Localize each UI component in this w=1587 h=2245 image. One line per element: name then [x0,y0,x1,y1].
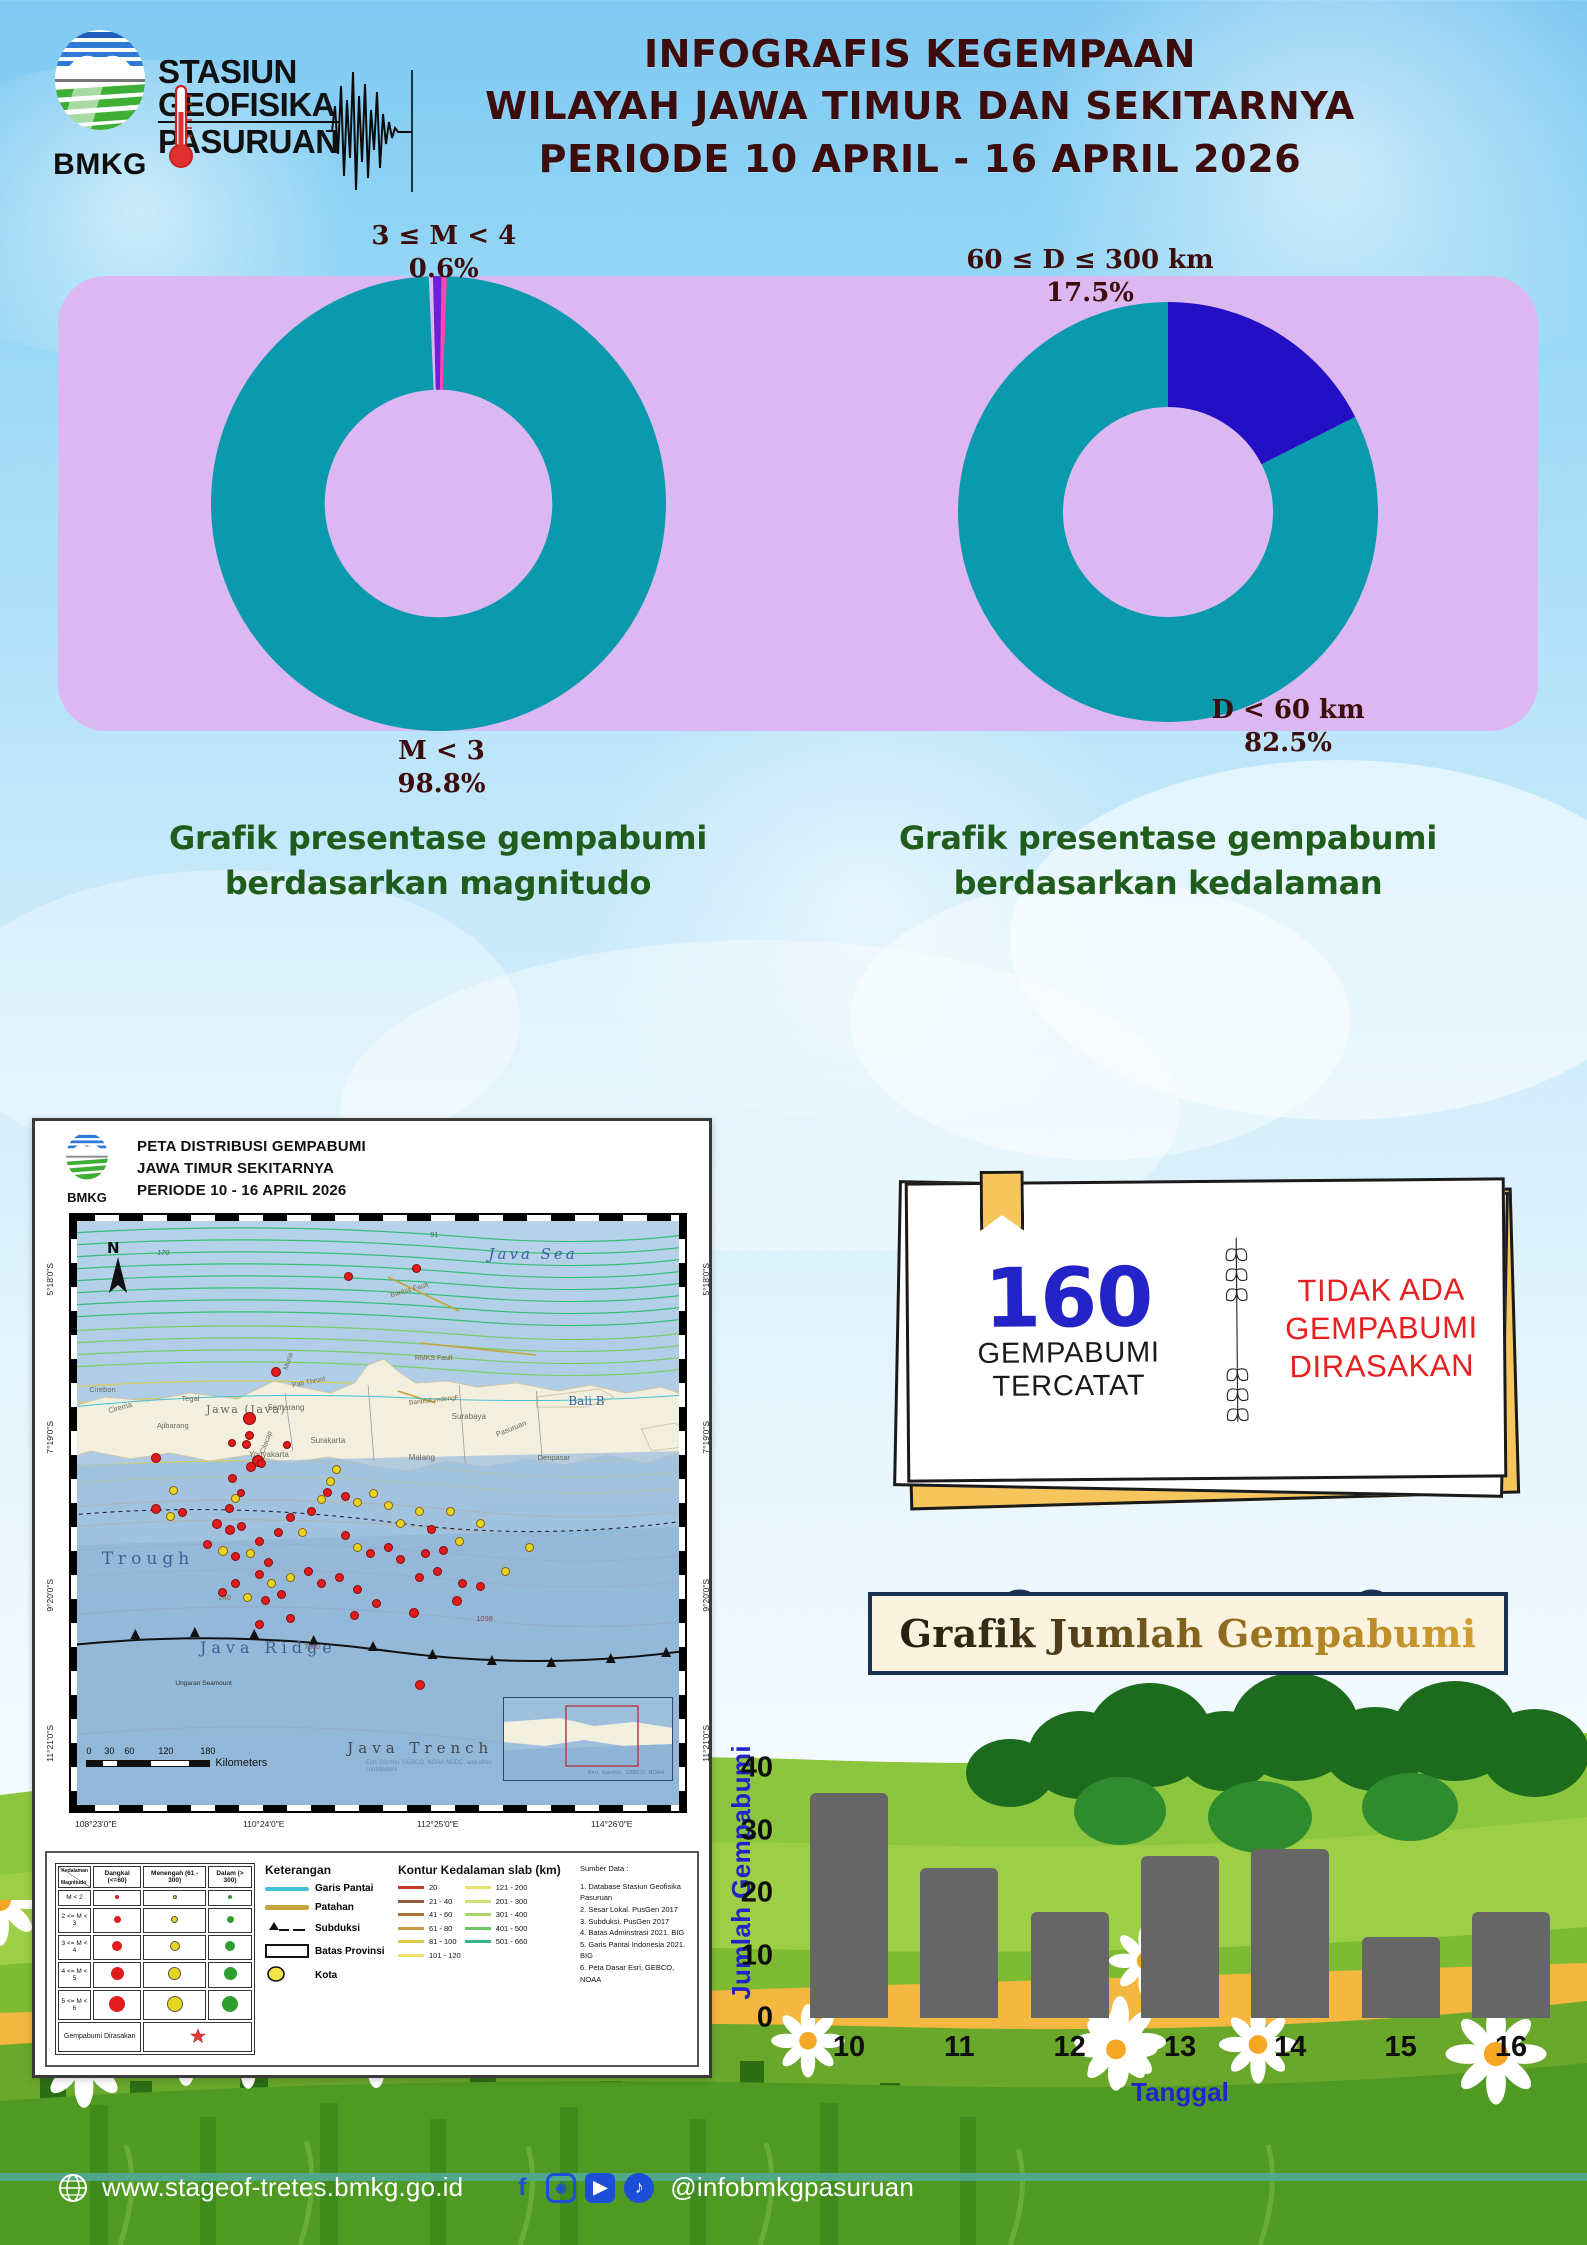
map-lon-label-2: 110°24'0"E [243,1819,284,1829]
chart-banner: Grafik Jumlah Gempabumi [868,1570,1508,1675]
map-city-malang: Malang [409,1453,435,1462]
map-inset: Esri, Garmin, GEBCO, NOAA [503,1697,673,1781]
magnitude-bottom-label-value: 98.8% [398,768,486,801]
y-tick-30: 30 [741,1814,773,1847]
legend-item-subduction-label: Subduksi [315,1923,360,1934]
depth-caption-line-2: berdasarkan kedalaman [848,861,1488,906]
kontur-left-list: 20 21 - 40 41 - 60 61 - 80 81 - 100 101 … [398,1883,461,1964]
kontur-item: 21 - 40 [398,1897,461,1906]
quake-marker [412,1264,421,1273]
depth-chart-block: 60 ≤ D ≤ 300 km 17.5% D < 60 km 82.5% Gr… [848,276,1488,731]
depth-bottom-label: D < 60 km 82.5% [1163,694,1413,761]
map-tick-band-top [71,1215,685,1221]
quake-marker [231,1552,240,1561]
bmkg-wordmark: BMKG [48,148,152,182]
map-label-rmks-fault: RMKS Fault [415,1355,453,1362]
legend-item-fault: Patahan [265,1902,390,1913]
kontur-item: 121 - 200 [465,1883,528,1892]
legend-item-province: Batas Provinsi [265,1944,390,1958]
bar-15 [1362,1937,1440,2018]
sumber-item: 3. Subduksi. PusGen 2017 [580,1916,689,1928]
legend-item-fault-label: Patahan [315,1902,354,1913]
map-lat-label-3: 9°20'0"S [45,1579,55,1612]
map-label-trough: Trough [102,1549,194,1569]
map-lon-label-1: 108°23'0"E [75,1819,117,1829]
quake-marker [243,1412,256,1425]
contour-label-7300: 7300 [304,1644,320,1651]
footer-contact-row: www.stageof-tretes.bmkg.go.id f ◉ ▶ ♪ @i… [58,2172,914,2203]
legend-item-coastline: Garis Pantai [265,1883,390,1894]
title-line-3: PERIODE 10 APRIL - 16 APRIL 2026 [330,133,1510,185]
bar-11 [920,1868,998,2018]
sumber-item: 5. Garis Pantai Indonesia 2021. BIG [580,1939,689,1962]
quake-marker [317,1579,326,1588]
bar-13 [1141,1856,1219,2018]
legend-magnitude-depth-table: Kedalaman Magnitudo Dangkal (<=60) Menen… [55,1863,255,2055]
legend-sumber-data: Sumber Data : 1. Database Stasiun Geofis… [570,1863,689,2055]
quake-marker [274,1528,283,1537]
quake-marker [427,1525,436,1534]
quake-marker [271,1367,281,1377]
magnitude-bottom-label-name: M < 3 [398,735,486,768]
depth-bottom-label-name: D < 60 km [1163,694,1413,727]
page-footer: www.stageof-tretes.bmkg.go.id f ◉ ▶ ♪ @i… [0,2035,1587,2245]
map-tick-band-bottom [71,1805,685,1811]
magnitude-donut: 3 ≤ M < 4 0.6% M < 3 98.8% [211,276,666,731]
map-lon-label-4: 114°26'0"E [591,1819,632,1829]
kontur-item: 501 - 660 [465,1937,528,1946]
facebook-icon[interactable]: f [507,2173,537,2203]
map-title-line-1: PETA DISTRIBUSI GEMPABUMI [137,1136,366,1158]
contour-label-91: 91 [430,1230,438,1239]
globe-icon [58,2173,88,2203]
kontur-item: 301 - 400 [465,1910,528,1919]
province-swatch-icon [265,1944,309,1958]
sumber-item: 2. Sesar Lokal. PusGen 2017 [580,1904,689,1916]
map-inset-graphic: Esri, Garmin, GEBCO, NOAA [504,1698,673,1781]
kontur-label: 21 - 40 [429,1897,452,1906]
svg-text:N: N [107,1239,120,1257]
legend-depth-header-2: Menengah (61 - 300) [143,1866,206,1888]
legend-item-city-label: Kota [315,1970,337,1981]
quake-marker [246,1549,255,1558]
map-bmkg-logo: BMKG [59,1133,115,1205]
count-card-front: 160 GEMPABUMI TERCATAT TIDAK ADA GEMPABU… [905,1177,1508,1482]
felt-line-2: GEMPABUMI [1260,1309,1503,1349]
quake-marker [476,1582,485,1591]
depth-donut-svg [958,302,1378,722]
map-lat-label-2: 7°19'0"S [45,1421,55,1454]
bar-16 [1472,1912,1550,2018]
count-card-felt-status: TIDAK ADA GEMPABUMI DIRASAKAN [1260,1271,1504,1387]
legend-mag-row-2: 2 <= M < 3 [58,1908,91,1933]
kontur-label: 61 - 80 [429,1924,452,1933]
count-card-divider [1213,1230,1261,1430]
magnitude-chart-block: 3 ≤ M < 4 0.6% M < 3 98.8% Grafik presen… [118,276,758,731]
coastline-swatch-icon [265,1887,309,1891]
felt-line-3: DIRASAKAN [1260,1346,1503,1386]
page-title: INFOGRAFIS KEGEMPAAN WILAYAH JAWA TIMUR … [330,28,1510,185]
kontur-item: 401 - 500 [465,1924,528,1933]
depth-caption-line-1: Grafik presentase gempabumi [848,816,1488,861]
fault-swatch-icon [265,1905,309,1910]
percentage-charts-panel: 3 ≤ M < 4 0.6% M < 3 98.8% Grafik presen… [58,276,1538,731]
map-lat-label-1-right: 5°18'0"S [701,1263,711,1296]
bmkg-logo-icon [52,30,148,142]
felt-line-1: TIDAK ADA [1260,1271,1503,1311]
quake-marker [341,1531,350,1540]
svg-text:Esri, Garmin, GEBCO, NOAA: Esri, Garmin, GEBCO, NOAA [588,1770,665,1776]
legend-mag-row-4: 4 <= M < 5 [58,1962,91,1988]
youtube-icon[interactable]: ▶ [585,2173,615,2203]
contour-label-170: 170 [157,1248,170,1257]
y-tick-10: 10 [741,1939,773,1972]
bar-series [810,1768,1550,2018]
quake-marker [433,1567,442,1576]
quake-marker [231,1579,240,1588]
legend-axis-depth: Kedalaman [61,1868,88,1874]
map-bmkg-wordmark: BMKG [59,1190,115,1205]
quake-marker [218,1588,227,1597]
quake-marker [384,1543,393,1552]
quake-marker [166,1512,175,1521]
quake-marker [245,1431,254,1440]
earthquake-distribution-map-card[interactable]: BMKG PETA DISTRIBUSI GEMPABUMI JAWA TIMU… [32,1118,712,2078]
quake-marker [415,1573,424,1582]
quake-marker [255,1570,264,1579]
map-lon-label-3: 112°25'0"E [417,1819,458,1829]
quake-marker [326,1477,335,1486]
legend-item-subduction: Subduksi [265,1921,390,1936]
kontur-label: 201 - 300 [496,1897,528,1906]
quake-marker [323,1488,332,1497]
map-title-line-2: JAWA TIMUR SEKITARNYA [137,1158,366,1180]
scale-tick-180: 180 [200,1746,215,1756]
quake-marker [151,1504,161,1514]
kontur-right-list: 121 - 200 201 - 300 301 - 400 401 - 500 … [465,1883,528,1964]
sumber-item: 4. Batas Adminstrasi 2021. BIG [580,1927,689,1939]
page-header: BMKG STASIUN GEOFISIKA PASURUAN INFOGRAF… [0,0,1587,250]
legend-mag-row-3: 3 <= M < 4 [58,1935,91,1960]
legend-axis-magnitude: Magnitudo [61,1880,86,1886]
instagram-icon[interactable]: ◉ [546,2173,576,2203]
depth-bottom-label-value: 82.5% [1163,727,1413,760]
kontur-label: 121 - 200 [496,1883,528,1892]
quake-marker [421,1549,430,1558]
quake-marker [366,1549,375,1558]
magnitude-caption-line-1: Grafik presentase gempabumi [118,816,758,861]
quake-marker [415,1507,424,1516]
footer-handle[interactable]: @infobmkgpasuruan [670,2172,914,2203]
magnitude-caption: Grafik presentase gempabumi berdasarkan … [118,816,758,907]
count-card-total: 160 GEMPABUMI TERCATAT [908,1259,1214,1404]
depth-donut: 60 ≤ D ≤ 300 km 17.5% D < 60 km 82.5% [958,302,1378,722]
kontur-item: 201 - 300 [465,1897,528,1906]
tiktok-icon[interactable]: ♪ [624,2173,654,2203]
legend-item-city: Kota [265,1966,390,1985]
legend-keterangan: Keterangan Garis Pantai Patahan Subduksi… [255,1863,390,2055]
magnitude-top-label-value: 0.6% [371,253,516,286]
social-icons[interactable]: f ◉ ▶ ♪ [507,2173,654,2203]
kontur-label: 501 - 660 [496,1937,528,1946]
sumber-title: Sumber Data : [580,1863,689,1875]
quake-marker [446,1507,455,1516]
scale-tick-0: 0 [86,1746,104,1756]
map-label-seamount: Ungaran Seamount [175,1680,231,1687]
map-lat-label-1: 5°18'0"S [45,1263,55,1296]
sumber-item: 1. Database Stasiun Geofisika Pasuruan [580,1881,689,1904]
sumber-item: 6. Peta Dasar Esri, GEBCO, NOAA [580,1962,689,1985]
earthquake-count-card: 160 GEMPABUMI TERCATAT TIDAK ADA GEMPABU… [890,1178,1530,1518]
legend-kontur-grid: 20 21 - 40 41 - 60 61 - 80 81 - 100 101 … [398,1883,570,1964]
quake-marker [242,1440,251,1449]
map-city-denpasar: Denpasar [538,1453,571,1462]
y-tick-40: 40 [741,1752,773,1785]
thermometer-icon [164,82,198,174]
kontur-item: 41 - 60 [398,1910,461,1919]
count-card-sub-line-2: TERCATAT [923,1369,1214,1404]
map-attribution: Esri, Garmin, GEBCO, NOAA NGDC, and othe… [366,1760,506,1776]
kontur-label: 81 - 100 [429,1937,457,1946]
y-axis: 0 10 20 30 40 [778,1768,781,2018]
kontur-label: 401 - 500 [496,1924,528,1933]
map-label-java-trench: Java Trench [347,1739,493,1757]
map-canvas[interactable]: Java Sea Jawa (Java) Trough Java Ridge J… [69,1213,687,1813]
map-lat-label-2-right: 7°19'0"S [701,1421,711,1454]
map-lat-label-4: 11°21'0"S [45,1725,55,1762]
quake-marker [228,1474,237,1483]
map-frame[interactable]: Java Sea Jawa (Java) Trough Java Ridge J… [69,1213,687,1813]
quake-marker [231,1494,240,1503]
bmkg-logo: BMKG [48,30,152,182]
scale-unit: Kilometers [215,1757,267,1769]
map-city-ajibarang: Ajibarang [157,1421,189,1430]
legend-kontur: Kontur Kedalaman slab (km) 20 21 - 40 41… [390,1863,570,2055]
north-arrow-icon: N [105,1239,131,1295]
quake-marker [203,1540,212,1549]
map-label-bali: Bali B [568,1394,604,1408]
magnitude-donut-svg [211,276,666,731]
legend-depth-header-1: Dangkal (<=60) [93,1866,141,1888]
map-city-cirebon: Cirebon [89,1385,115,1394]
magnitude-top-label-name: 3 ≤ M < 4 [371,220,516,253]
kontur-item: 61 - 80 [398,1924,461,1933]
quake-marker [344,1272,353,1281]
footer-website[interactable]: www.stageof-tretes.bmkg.go.id [102,2172,463,2203]
y-tick-20: 20 [741,1877,773,1910]
magnitude-top-label: 3 ≤ M < 4 0.6% [371,220,516,287]
subduction-swatch-icon [265,1921,309,1936]
bookmark-ribbon-icon [980,1171,1025,1231]
depth-top-label-name: 60 ≤ D ≤ 300 km [940,244,1240,277]
map-city-semarang: Semarang [267,1403,304,1412]
leaf-branch-icon [1216,1230,1258,1430]
map-lat-label-3-right: 9°20'0"S [701,1579,711,1612]
quake-marker [458,1579,467,1588]
contour-label-1098: 1098 [476,1614,493,1623]
legend-kontur-title: Kontur Kedalaman slab (km) [398,1863,570,1877]
legend-mag-row-5: 5 <= M < 6 [58,1990,91,2020]
title-line-2: WILAYAH JAWA TIMUR DAN SEKITARNYA [330,80,1510,132]
map-label-java-sea: Java Sea [489,1245,578,1263]
title-line-1: INFOGRAFIS KEGEMPAAN [330,28,1510,80]
depth-top-label-value: 17.5% [940,277,1240,310]
quake-marker [369,1489,378,1498]
quake-marker [228,1439,236,1447]
bar-10 [810,1793,888,2018]
map-scale-bar: 0 30 60 120 180 Kilometers [86,1746,267,1769]
map-title: PETA DISTRIBUSI GEMPABUMI JAWA TIMUR SEK… [137,1136,366,1201]
quake-marker [455,1537,464,1546]
quake-marker [225,1504,234,1513]
map-header: BMKG PETA DISTRIBUSI GEMPABUMI JAWA TIMU… [35,1121,709,1211]
quake-marker [225,1525,235,1535]
kontur-item: 101 - 120 [398,1951,461,1960]
magnitude-caption-line-2: berdasarkan magnitudo [118,861,758,906]
bar-14 [1251,1849,1329,2018]
map-tick-band-right [679,1215,685,1811]
quake-marker [255,1537,264,1546]
quake-marker [298,1528,307,1537]
kontur-item: 81 - 100 [398,1937,461,1946]
depth-top-label: 60 ≤ D ≤ 300 km 17.5% [940,244,1240,311]
quake-marker [415,1680,425,1690]
kontur-label: 101 - 120 [429,1951,461,1960]
y-tick-0: 0 [757,2002,773,2035]
map-tick-band-left [71,1215,77,1811]
magnitude-bottom-label: M < 3 98.8% [398,735,486,802]
quake-marker [286,1573,295,1582]
kontur-label: 41 - 60 [429,1910,452,1919]
kontur-label: 20 [429,1883,437,1892]
quake-marker [335,1573,344,1582]
banner-title: Grafik Jumlah Gempabumi [868,1592,1508,1675]
legend-keterangan-title: Keterangan [265,1863,390,1877]
scale-tick-30: 30 [104,1746,124,1756]
bar-12 [1031,1912,1109,2018]
map-city-tegal: Tegal [182,1394,200,1403]
bmkg-logo-icon-small [64,1133,110,1185]
legend-item-coastline-label: Garis Pantai [315,1883,373,1894]
city-swatch-icon [265,1966,309,1985]
quake-marker [304,1567,313,1576]
scale-tick-60: 60 [124,1746,158,1756]
quake-marker [237,1522,246,1531]
legend-depth-header-3: Dalam (> 300) [208,1866,252,1888]
map-city-surakarta: Surakarta [310,1436,345,1445]
legend-mag-row-1: M < 2 [58,1890,91,1906]
map-city-surabaya: Surabaya [452,1412,486,1421]
quake-marker [286,1513,295,1522]
depth-caption: Grafik presentase gempabumi berdasarkan … [848,816,1488,907]
count-card-number: 160 [922,1259,1214,1339]
quake-marker [353,1585,362,1594]
kontur-item: 20 [398,1883,461,1892]
quake-marker [317,1495,326,1504]
bmkg-brand: BMKG STASIUN GEOFISIKA PASURUAN [48,30,339,182]
count-card-sub-line-1: GEMPABUMI [923,1336,1214,1371]
kontur-label: 301 - 400 [496,1910,528,1919]
quake-marker [501,1567,510,1576]
legend-item-province-label: Batas Provinsi [315,1946,384,1957]
map-title-line-3: PERIODE 10 - 16 APRIL 2026 [137,1180,366,1202]
scale-tick-120: 120 [158,1746,200,1756]
